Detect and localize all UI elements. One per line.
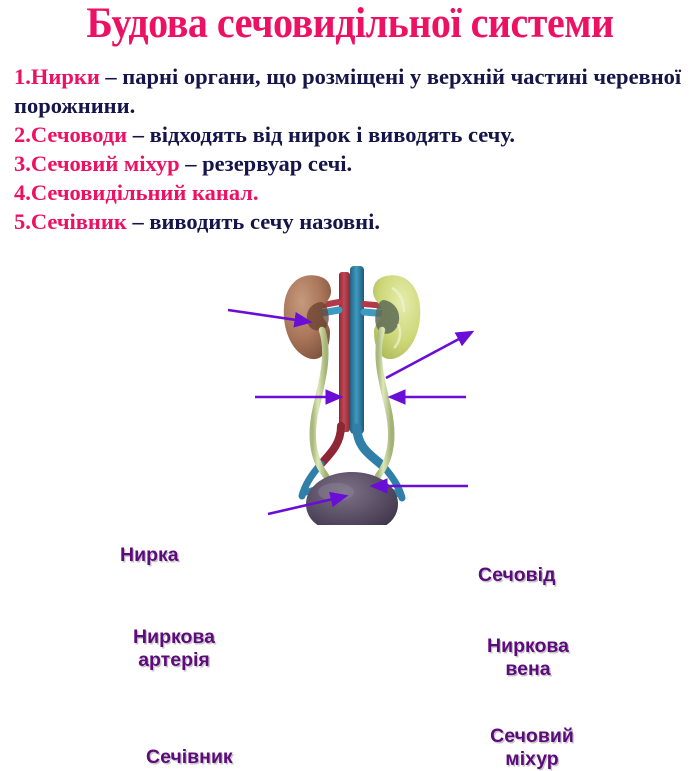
label-kidney: Нирка (120, 544, 179, 567)
label-urethra: Сечівник (146, 746, 233, 769)
label-bladder-line2: міхур (474, 748, 590, 771)
page-title: Будова сечовидільної системи (25, 0, 676, 50)
list-item: 5.Сечівник – виводить сечу назовні. (14, 207, 692, 236)
label-renal-vein: Ниркова вена (472, 635, 584, 681)
list-item-term: Сечоводи (31, 122, 127, 147)
list-item-rest: – відходять від нирок і виводять сечу. (127, 122, 515, 147)
list-item: 1.Нирки – парні органи, що розміщені у в… (14, 62, 692, 120)
label-renal-vein-line2: вена (472, 658, 584, 681)
label-renal-vein-line1: Ниркова (487, 635, 569, 657)
list-item-term: Нирки (31, 64, 100, 89)
list-item: 3.Сечовий міхур – резервуар сечі. (14, 149, 692, 178)
anatomy-illustration (0, 258, 700, 525)
list-item-number: 3. (14, 151, 31, 176)
urinary-system-diagram: Нирка Ниркова артерія Сечівник Сечовід Н… (0, 258, 700, 525)
list-item-number: 4. (14, 180, 31, 205)
list-item-term: Сечовидільний канал. (31, 180, 259, 205)
label-ureter-line1: Сечовід (478, 564, 555, 586)
bladder (306, 472, 398, 525)
label-bladder: Сечовий міхур (474, 725, 590, 771)
list-item-number: 5. (14, 209, 31, 234)
list-item-rest: – виводить сечу назовні. (127, 209, 380, 234)
list-item: 2.Сечоводи – відходять від нирок і вивод… (14, 120, 692, 149)
list-item-term: Сечовий міхур (31, 151, 180, 176)
label-renal-artery-line1: Ниркова (133, 626, 215, 648)
list-item-rest: – резервуар сечі. (180, 151, 353, 176)
label-renal-artery-line2: артерія (116, 649, 232, 672)
list-item-rest: – парні органи, що розміщені у верхній ч… (14, 64, 681, 118)
list-item: 4.Сечовидільний канал. (14, 178, 692, 207)
label-urethra-line1: Сечівник (146, 746, 233, 768)
label-kidney-line1: Нирка (120, 544, 179, 566)
bullet-list: 1.Нирки – парні органи, що розміщені у в… (14, 62, 692, 236)
list-item-number: 1. (14, 64, 31, 89)
list-item-term: Сечівник (31, 209, 127, 234)
list-item-number: 2. (14, 122, 31, 147)
label-renal-artery: Ниркова артерія (116, 626, 232, 672)
label-ureter: Сечовід (478, 564, 555, 587)
label-bladder-line1: Сечовий (490, 725, 574, 747)
